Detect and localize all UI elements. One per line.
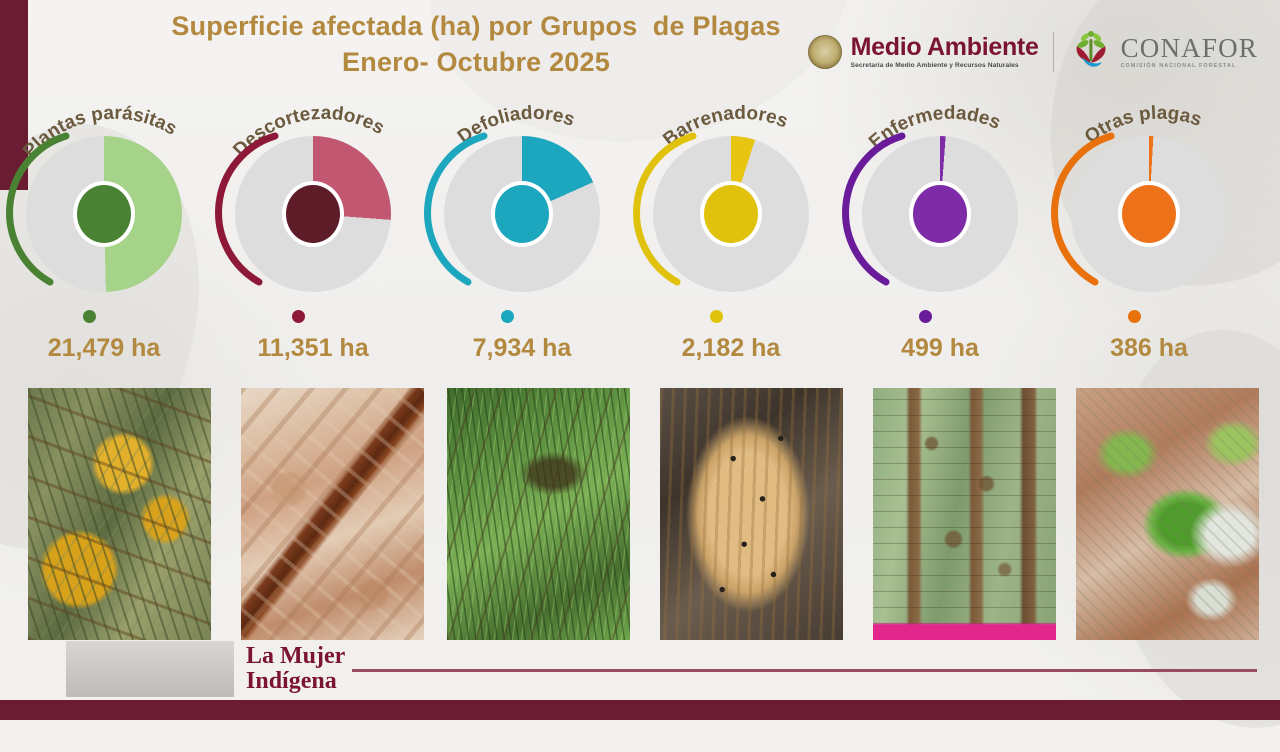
gauge-outer-arc-1 (0, 126, 168, 302)
gauge-arc-end-dot-6 (1128, 310, 1141, 323)
gauge-outer-arc-5 (828, 126, 1004, 302)
gauge-5: Enfermedades499 ha (836, 96, 1044, 396)
title-line-1: Superficie afectada (ha) por Grupos de P… (96, 8, 856, 44)
pest-group-gauge-row: Plantas parásitas21,479 haDescortezadore… (0, 96, 1280, 396)
gauge-arc-end-dot-1 (83, 310, 96, 323)
gauge-6: Otras plagas386 ha (1045, 96, 1253, 396)
footer-brand-line-2: Indígena (246, 669, 345, 694)
gauge-value-6: 386 ha (1045, 334, 1253, 363)
gauge-2: Descortezadores11,351 ha (209, 96, 417, 396)
mexican-coat-of-arms-icon (808, 35, 842, 69)
photo-defoliadores (447, 388, 630, 640)
semarnat-subtitle: Secretaría de Medio Ambiente y Recursos … (851, 63, 1039, 70)
gauge-1: Plantas parásitas21,479 ha (0, 96, 208, 396)
mujeres-indigenas-bw-photo (66, 641, 234, 697)
gauge-arc-end-dot-4 (710, 310, 723, 323)
semarnat-name: Medio Ambiente (851, 35, 1039, 60)
gauge-value-5: 499 ha (836, 334, 1044, 363)
page-title: Superficie afectada (ha) por Grupos de P… (96, 8, 856, 80)
gauge-outer-arc-4 (619, 126, 795, 302)
pest-photo-strip (0, 388, 1280, 640)
semarnat-logo: Medio Ambiente Secretaría de Medio Ambie… (808, 35, 1039, 70)
gauge-3: Defoliadores7,934 ha (418, 96, 626, 396)
footer-brand-line-1: La Mujer (246, 644, 345, 669)
logo-divider (1053, 32, 1054, 72)
conafor-name: CONAFOR (1121, 35, 1258, 62)
conafor-tree-icon (1068, 29, 1114, 75)
gauge-outer-arc-2 (201, 126, 377, 302)
footer-rule (352, 669, 1257, 672)
photo-enfermedades (873, 388, 1056, 640)
bottom-accent-band (0, 700, 1280, 720)
gauge-4: Barrenadores2,182 ha (627, 96, 835, 396)
photo-otras-plagas (1076, 388, 1259, 640)
footer-brand-text: La Mujer Indígena (246, 644, 345, 694)
gauge-value-4: 2,182 ha (627, 334, 835, 363)
photo-barrenadores (660, 388, 843, 640)
gauge-value-2: 11,351 ha (209, 334, 417, 363)
footer-brand: La Mujer Indígena (66, 640, 345, 698)
conafor-subtitle: COMISIÓN NACIONAL FORESTAL (1121, 64, 1258, 69)
title-line-2: Enero- Octubre 2025 (96, 44, 856, 80)
photo-plantas-parasitas (28, 388, 211, 640)
gauge-arc-end-dot-5 (919, 310, 932, 323)
gauge-arc-end-dot-2 (292, 310, 305, 323)
gauge-arc-end-dot-3 (501, 310, 514, 323)
logo-group: Medio Ambiente Secretaría de Medio Ambie… (808, 24, 1258, 80)
gauge-outer-arc-6 (1037, 126, 1213, 302)
gauge-value-1: 21,479 ha (0, 334, 208, 363)
photo-descortezadores (241, 388, 424, 640)
gauge-value-3: 7,934 ha (418, 334, 626, 363)
conafor-logo: CONAFOR COMISIÓN NACIONAL FORESTAL (1068, 29, 1258, 75)
gauge-outer-arc-3 (410, 126, 586, 302)
